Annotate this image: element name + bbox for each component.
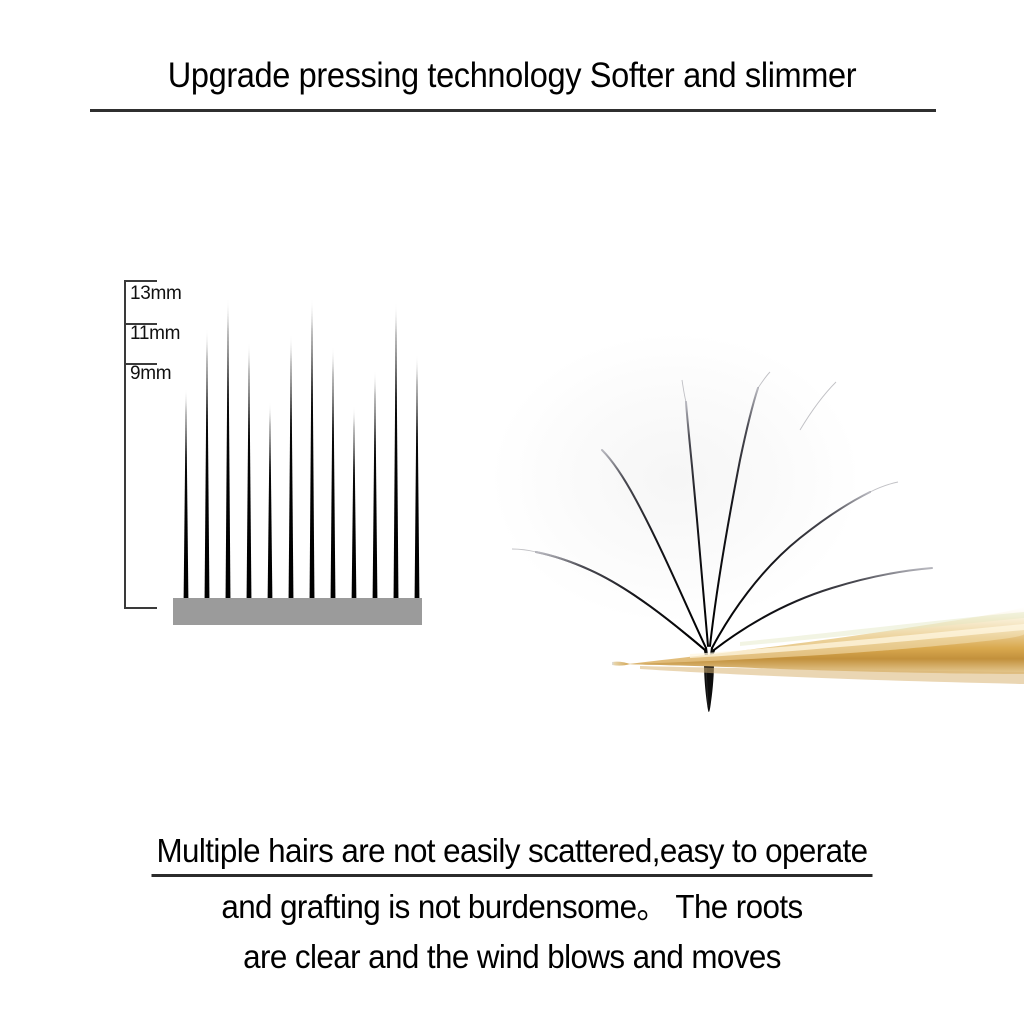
caption-underline-3 (238, 874, 786, 877)
lash-spike-body (351, 406, 356, 618)
caption-line-1: Multiple hairs are not easily scattered,… (26, 832, 999, 870)
ruler-tick-13mm (124, 280, 157, 282)
lash-spike-body (183, 388, 188, 618)
lash-spike-body (393, 302, 398, 618)
tweezer-tip (612, 662, 630, 666)
lash-fan-photo (440, 270, 1024, 730)
caption-line-3: are clear and the wind blows and moves (26, 938, 999, 976)
lash-spike-body (225, 298, 230, 618)
title-underline (90, 109, 936, 112)
lash-spike-body (372, 370, 377, 618)
lash-spike-body (246, 342, 251, 618)
ruler-tick-base (124, 607, 157, 609)
lash-spike-body (288, 334, 293, 618)
tweezer (440, 270, 1024, 730)
lash-spike-body (204, 328, 209, 618)
ruler-spine (124, 280, 126, 609)
lash-spike-body (267, 402, 272, 618)
ruler-label-9mm: 9mm (130, 363, 171, 385)
caption-block: Multiple hairs are not easily scattered,… (0, 832, 1024, 976)
lash-spike-body (309, 298, 314, 618)
lash-spike-body (330, 346, 335, 618)
lash-length-diagram: 13mm 11mm 9mm (110, 265, 440, 635)
lash-spike-body (414, 354, 419, 618)
product-infographic-page: Upgrade pressing technology Softer and s… (0, 0, 1024, 1024)
lash-base-strip (173, 598, 422, 625)
caption-line-2: and grafting is not burdensome。 The root… (26, 880, 999, 928)
lash-comb-strip (170, 265, 435, 625)
page-title: Upgrade pressing technology Softer and s… (36, 56, 988, 96)
